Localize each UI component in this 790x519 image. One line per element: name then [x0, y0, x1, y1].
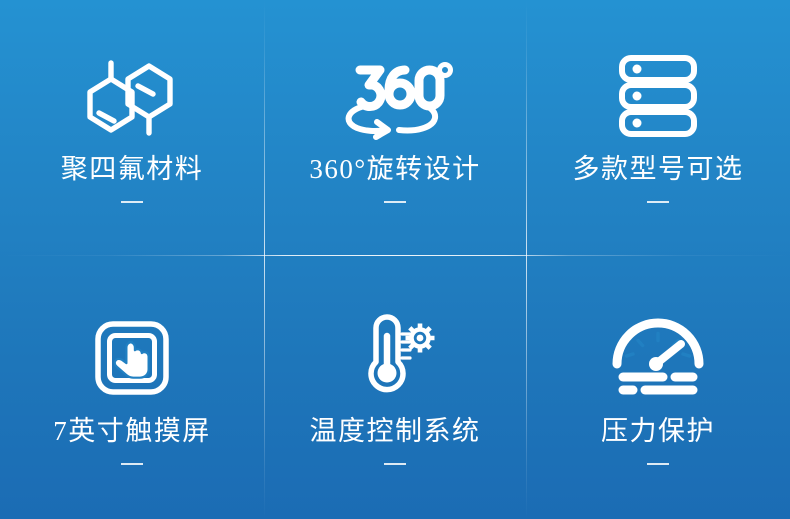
- feature-grid: 聚四氟材料: [0, 0, 790, 519]
- feature-cell-360-rotation[interactable]: 360°旋转设计: [264, 0, 526, 255]
- feature-cell-ptfe-material[interactable]: 聚四氟材料: [0, 0, 264, 255]
- feature-banner: 聚四氟材料: [0, 0, 790, 519]
- molecule-hexagons-icon: [78, 52, 186, 138]
- feature-underline-rule: [121, 201, 143, 203]
- feature-cell-touchscreen[interactable]: 7英寸触摸屏: [0, 255, 264, 519]
- feature-cell-multiple-models[interactable]: 多款型号可选: [526, 0, 790, 255]
- touchscreen-hand-icon: [94, 310, 170, 396]
- feature-label: 聚四氟材料: [61, 156, 204, 183]
- feature-underline-rule: [647, 463, 669, 465]
- server-stack-icon: [617, 52, 699, 138]
- feature-label: 360°旋转设计: [309, 156, 480, 183]
- feature-cell-pressure-protection[interactable]: 压力保护: [526, 255, 790, 519]
- feature-underline-rule: [121, 463, 143, 465]
- 360-rotation-icon: [339, 52, 451, 138]
- feature-label: 7英寸触摸屏: [53, 418, 211, 445]
- pressure-gauge-icon: [611, 310, 705, 396]
- feature-cell-temperature-control[interactable]: 温度控制系统: [264, 255, 526, 519]
- feature-label: 压力保护: [601, 418, 715, 445]
- feature-underline-rule: [647, 201, 669, 203]
- feature-underline-rule: [384, 463, 406, 465]
- feature-label: 温度控制系统: [310, 418, 481, 445]
- feature-label: 多款型号可选: [573, 156, 744, 183]
- feature-underline-rule: [384, 201, 406, 203]
- thermometer-gear-icon: [352, 310, 438, 396]
